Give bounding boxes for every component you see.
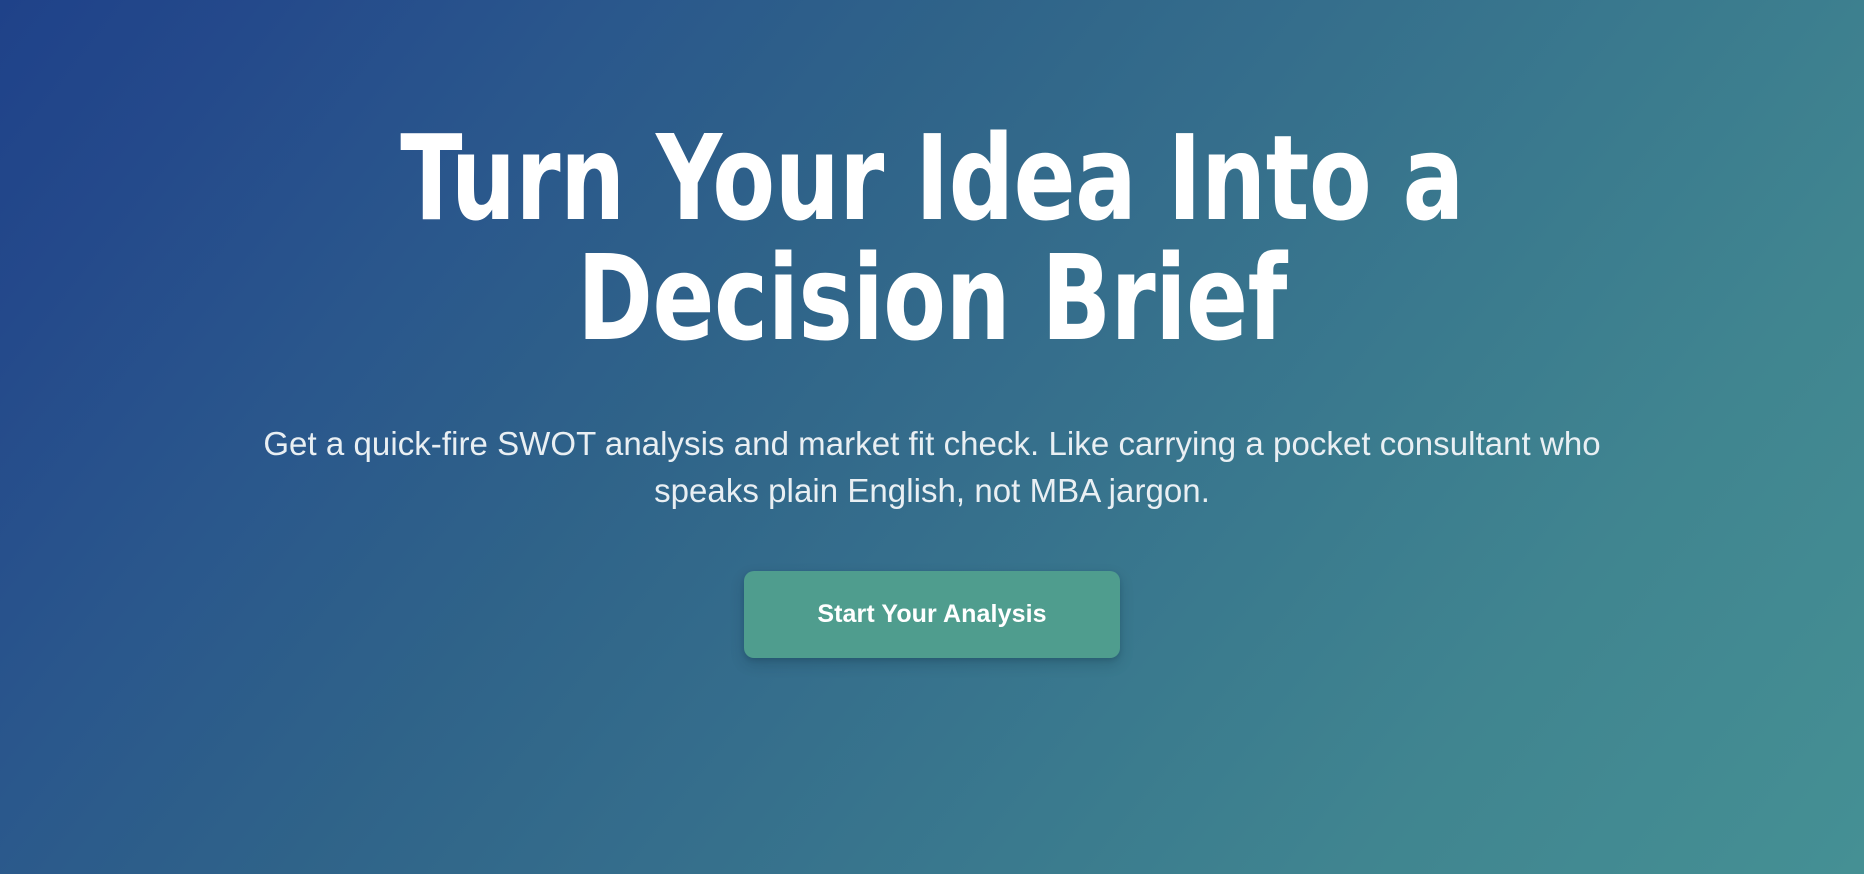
hero-section: Turn Your Idea Into a Decision Brief Get…	[0, 0, 1864, 874]
hero-subtitle: Get a quick-fire SWOT analysis and marke…	[262, 421, 1602, 515]
page-title: Turn Your Idea Into a Decision Brief	[373, 118, 1491, 359]
start-analysis-button[interactable]: Start Your Analysis	[744, 571, 1120, 658]
cta-container: Start Your Analysis	[0, 571, 1864, 658]
